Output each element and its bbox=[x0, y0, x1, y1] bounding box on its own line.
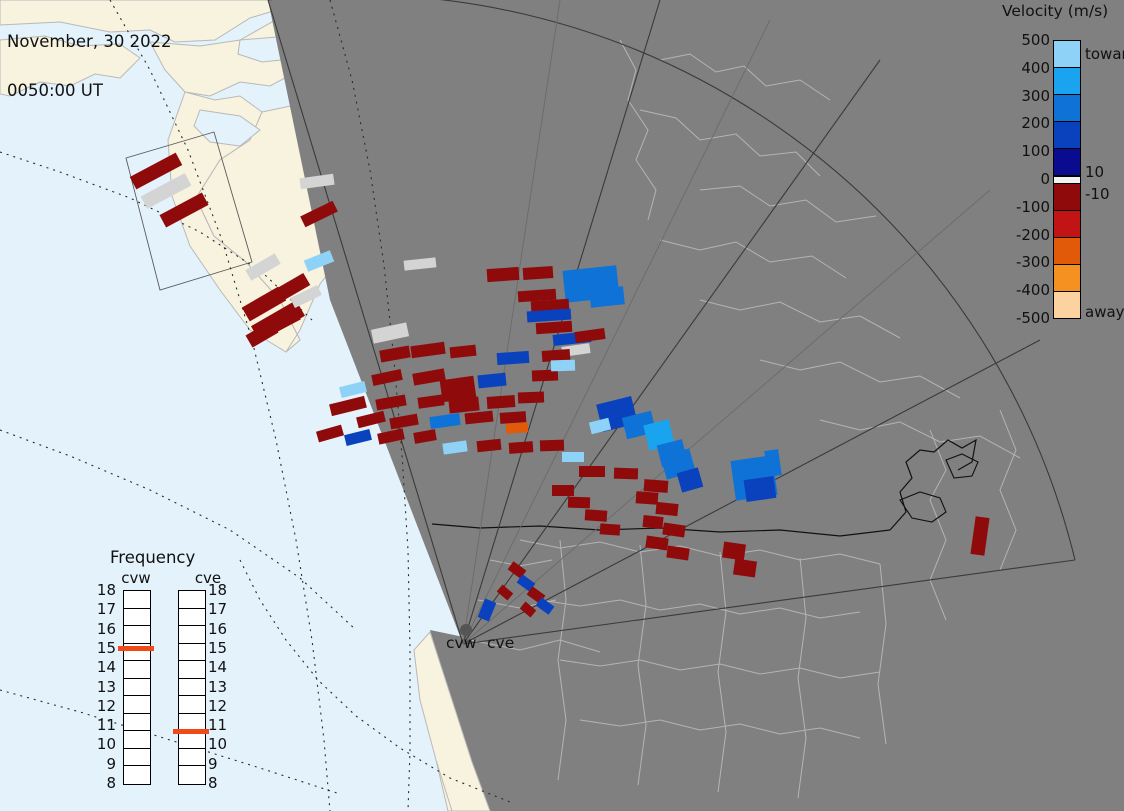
frequency-scale-cell bbox=[179, 731, 205, 749]
radar-scan-cell bbox=[389, 414, 418, 430]
colorbar-title: Velocity (m/s) bbox=[1002, 2, 1124, 20]
frequency-marker-cve bbox=[173, 729, 209, 734]
colorbar-zero-lower-label: -10 bbox=[1085, 185, 1110, 203]
radar-scan-cell bbox=[677, 467, 704, 492]
radar-site-label-cvw: cvw bbox=[446, 634, 476, 652]
frequency-scale-cell bbox=[179, 609, 205, 627]
radar-scan-cell bbox=[540, 440, 564, 452]
frequency-panel: Frequency cvw cve 1818171716161515141413… bbox=[88, 548, 238, 788]
colorbar-tick-300: 300 bbox=[1021, 87, 1050, 105]
radar-scan-cell bbox=[413, 429, 437, 444]
frequency-scale-cell bbox=[124, 766, 150, 784]
colorbar-zero-band bbox=[1054, 176, 1080, 184]
radar-scan-cell bbox=[344, 429, 372, 446]
colorbar-tick-neg100: -100 bbox=[1016, 198, 1050, 216]
radar-scan-cell bbox=[304, 250, 334, 272]
frequency-scale-cell bbox=[179, 591, 205, 609]
colorbar-band-7 bbox=[1054, 238, 1080, 265]
frequency-tick-cve-15: 15 bbox=[208, 639, 227, 657]
colorbar-band-0 bbox=[1054, 41, 1080, 68]
radar-scan-cell bbox=[518, 392, 544, 404]
frequency-tick-cve-9: 9 bbox=[208, 755, 218, 773]
frequency-scale-cell bbox=[124, 731, 150, 749]
radar-scan-cell bbox=[744, 476, 777, 502]
colorbar-band-5 bbox=[1054, 184, 1080, 211]
frequency-scale-cell bbox=[124, 714, 150, 732]
radar-scan-cell bbox=[614, 468, 638, 480]
frequency-tick-cvw-15: 15 bbox=[88, 639, 116, 657]
radar-scan-cell bbox=[477, 373, 506, 389]
radar-scan-cell bbox=[644, 479, 669, 493]
frequency-scale-cell bbox=[179, 679, 205, 697]
timestamp-block: November, 30 2022 0050:00 UT bbox=[7, 2, 172, 132]
radar-scan-cell bbox=[536, 321, 573, 334]
frequency-tick-cve-16: 16 bbox=[208, 620, 227, 638]
frequency-scale-cell bbox=[179, 696, 205, 714]
colorbar-band-8 bbox=[1054, 265, 1080, 292]
colorbar-band-4 bbox=[1054, 149, 1080, 176]
colorbar-band-3 bbox=[1054, 122, 1080, 149]
radar-scan-cell bbox=[497, 585, 514, 601]
colorbar-tick-neg300: -300 bbox=[1016, 253, 1050, 271]
frequency-tick-cvw-9: 9 bbox=[88, 755, 116, 773]
radar-scan-cell bbox=[764, 449, 781, 477]
frequency-tick-cvw-17: 17 bbox=[88, 600, 116, 618]
radar-scan-cell bbox=[465, 411, 494, 425]
frequency-scale-cell bbox=[179, 661, 205, 679]
colorbar-tick-neg400: -400 bbox=[1016, 281, 1050, 299]
radar-scan-cell bbox=[645, 536, 668, 551]
radar-scan-cell bbox=[562, 452, 584, 462]
colorbar-away-label: away bbox=[1085, 303, 1124, 321]
radar-scan-cell bbox=[410, 342, 445, 359]
radar-scan-cell bbox=[487, 395, 516, 409]
radar-scan-cell bbox=[429, 413, 460, 429]
frequency-scale-cell bbox=[124, 661, 150, 679]
radar-scan-cell bbox=[300, 201, 338, 228]
frequency-scale-cell bbox=[179, 766, 205, 784]
frequency-tick-cve-18: 18 bbox=[208, 581, 227, 599]
radar-scan-cell bbox=[299, 174, 334, 190]
colorbar-zero-upper-label: 10 bbox=[1085, 163, 1104, 181]
frequency-scale-cell bbox=[179, 626, 205, 644]
radar-scan-cell bbox=[329, 396, 367, 416]
colorbar-band-6 bbox=[1054, 211, 1080, 238]
radar-scan-cell bbox=[509, 441, 534, 454]
radar-scan-cell bbox=[666, 546, 689, 561]
radar-scan-cell bbox=[520, 602, 537, 618]
radar-scan-cell bbox=[722, 542, 746, 561]
radar-scan-cell bbox=[662, 523, 685, 538]
radar-scan-cell bbox=[478, 598, 497, 621]
frequency-tick-cve-8: 8 bbox=[208, 774, 218, 792]
radar-scan-cell bbox=[655, 502, 678, 516]
frequency-tick-cve-11: 11 bbox=[208, 716, 227, 734]
radar-scan-cell bbox=[371, 369, 403, 386]
radar-scan-cell bbox=[316, 425, 344, 443]
radar-site-label-cve: cve bbox=[487, 634, 514, 652]
frequency-scale-cell bbox=[124, 626, 150, 644]
frequency-tick-cve-14: 14 bbox=[208, 658, 227, 676]
frequency-tick-cve-12: 12 bbox=[208, 697, 227, 715]
radar-scan-cell bbox=[417, 394, 444, 409]
colorbar-toward-label: toward bbox=[1085, 45, 1124, 63]
radar-scan-cell bbox=[536, 597, 555, 614]
frequency-tick-cve-10: 10 bbox=[208, 735, 227, 753]
date-text: November, 30 2022 bbox=[7, 34, 172, 51]
radar-scan-cell bbox=[379, 345, 411, 362]
velocity-colorbar: Velocity (m/s) 5004003002001000-100-200-… bbox=[992, 2, 1124, 332]
colorbar-band-1 bbox=[1054, 68, 1080, 95]
colorbar-tick-400: 400 bbox=[1021, 59, 1050, 77]
colorbar-tick-500: 500 bbox=[1021, 31, 1050, 49]
frequency-tick-cvw-11: 11 bbox=[88, 716, 116, 734]
time-text: 0050:00 UT bbox=[7, 83, 172, 100]
frequency-scale-cell bbox=[124, 749, 150, 767]
frequency-tick-cvw-14: 14 bbox=[88, 658, 116, 676]
radar-scan-cell bbox=[589, 286, 625, 307]
radar-scan-cell bbox=[579, 466, 605, 477]
radar-scan-cell bbox=[574, 328, 605, 343]
radar-scan-cell bbox=[733, 559, 757, 578]
frequency-panel-title: Frequency bbox=[110, 548, 195, 567]
radar-velocity-map-view: cvw cve November, 30 2022 0050:00 UT Vel… bbox=[0, 0, 1124, 811]
radar-scan-cell bbox=[532, 370, 558, 382]
radar-scan-cell bbox=[375, 394, 406, 410]
radar-scan-cell bbox=[448, 396, 479, 413]
radar-scan-cell bbox=[245, 253, 280, 280]
radar-scan-cell bbox=[568, 497, 590, 509]
frequency-scale-cell bbox=[124, 591, 150, 609]
radar-scan-cell bbox=[442, 440, 467, 454]
colorbar-tick-neg500: -500 bbox=[1016, 309, 1050, 327]
frequency-scale-box-cve[interactable] bbox=[178, 590, 206, 785]
frequency-tick-cvw-13: 13 bbox=[88, 678, 116, 696]
radar-scan-cell bbox=[449, 345, 476, 359]
radar-scan-cell bbox=[523, 266, 554, 280]
frequency-scale-box-cvw[interactable] bbox=[123, 590, 151, 785]
frequency-tick-cve-17: 17 bbox=[208, 600, 227, 618]
frequency-tick-cvw-8: 8 bbox=[88, 774, 116, 792]
frequency-scale-cell bbox=[124, 679, 150, 697]
radar-scan-cell bbox=[636, 491, 659, 505]
radar-scan-cell bbox=[600, 523, 621, 535]
colorbar-band-2 bbox=[1054, 95, 1080, 122]
radar-scan-cell bbox=[371, 322, 409, 343]
frequency-tick-cvw-18: 18 bbox=[88, 581, 116, 599]
colorbar-gradient-bar bbox=[1053, 40, 1081, 319]
radar-scan-cell bbox=[487, 267, 520, 282]
radar-scan-cell bbox=[970, 516, 989, 556]
radar-scan-cell bbox=[589, 418, 611, 434]
colorbar-band-9 bbox=[1054, 292, 1080, 318]
frequency-tick-cvw-10: 10 bbox=[88, 735, 116, 753]
frequency-tick-cve-13: 13 bbox=[208, 678, 227, 696]
radar-scan-cell bbox=[377, 428, 405, 444]
radar-scan-cell bbox=[552, 485, 574, 496]
radar-scan-cell bbox=[551, 360, 575, 372]
frequency-tick-cvw-12: 12 bbox=[88, 697, 116, 715]
radar-scan-cell bbox=[506, 422, 529, 434]
colorbar-tick-100: 100 bbox=[1021, 142, 1050, 160]
frequency-scale-cell bbox=[124, 609, 150, 627]
frequency-scale-cell bbox=[179, 749, 205, 767]
colorbar-tick-200: 200 bbox=[1021, 114, 1050, 132]
radar-scan-cell bbox=[497, 351, 530, 365]
colorbar-tick-0: 0 bbox=[1040, 170, 1050, 188]
radar-scan-cell bbox=[356, 411, 386, 428]
frequency-scale-cell bbox=[179, 644, 205, 662]
radar-scan-cell bbox=[585, 509, 608, 522]
colorbar-tick-neg200: -200 bbox=[1016, 226, 1050, 244]
frequency-tick-cvw-16: 16 bbox=[88, 620, 116, 638]
frequency-scale-cell bbox=[124, 696, 150, 714]
radar-scan-cell bbox=[476, 439, 501, 452]
frequency-marker-cvw bbox=[118, 646, 154, 651]
radar-scan-cell bbox=[404, 257, 437, 270]
radar-scan-cell bbox=[642, 515, 663, 529]
